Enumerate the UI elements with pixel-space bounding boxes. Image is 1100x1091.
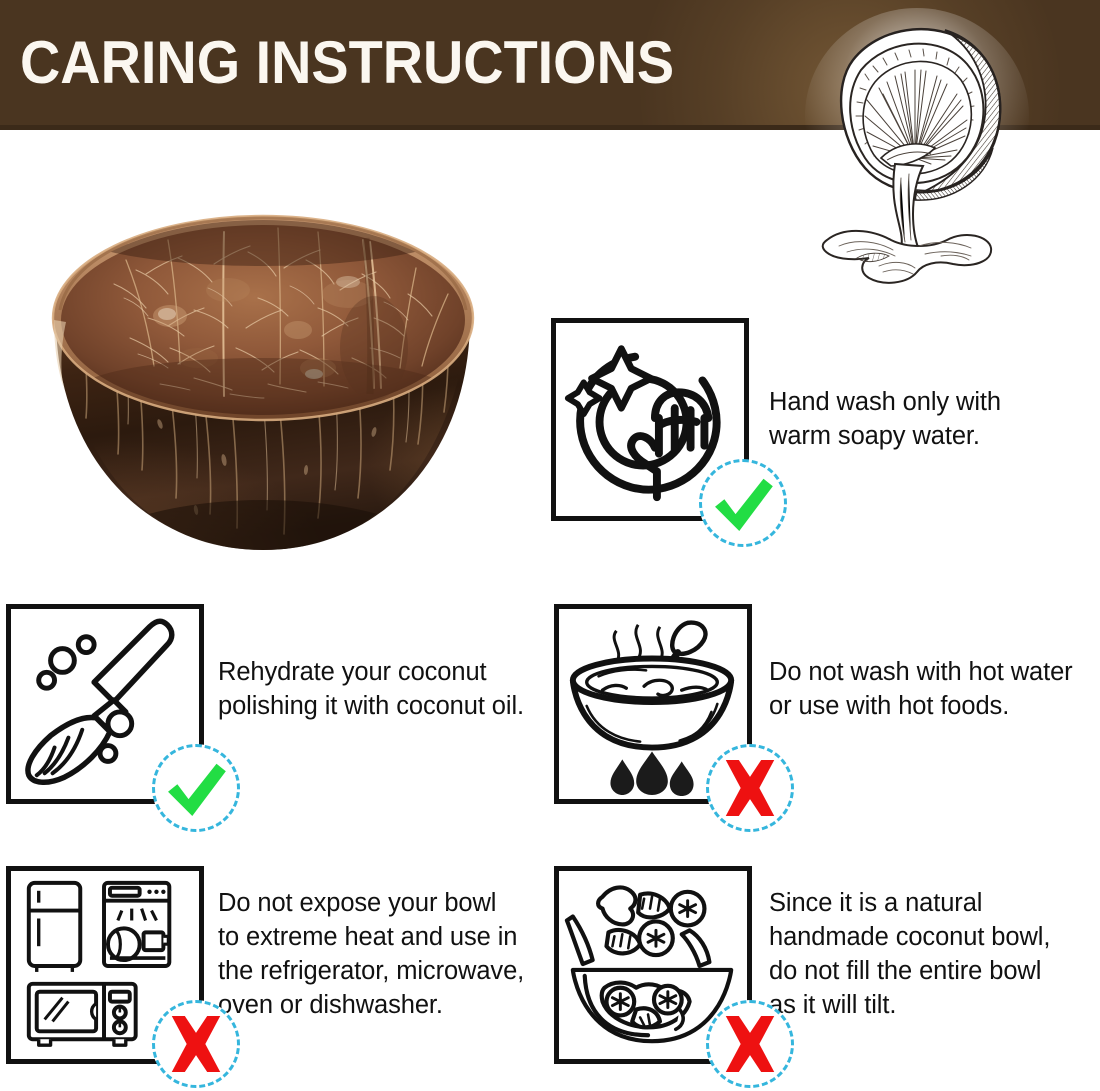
cross-badge-no-extreme-heat (152, 1000, 240, 1088)
check-badge-rehydrate (152, 744, 240, 832)
coconut-bowl-photo (18, 198, 508, 588)
cross-badge-do-not-overfill (706, 1000, 794, 1088)
instruction-text-hand-wash: Hand wash only with warm soapy water. (769, 385, 1089, 453)
instruction-text-do-not-overfill: Since it is a natural handmade coconut b… (769, 886, 1100, 1022)
page-title: CARING INSTRUCTIONS (20, 26, 674, 100)
instruction-text-rehydrate: Rehydrate your coconut polishing it with… (218, 655, 548, 723)
instruction-text-no-hot-water: Do not wash with hot water or use with h… (769, 655, 1099, 723)
cross-badge-no-hot-water (706, 744, 794, 832)
coconut-pouring-milk-sketch-icon (795, 8, 1045, 303)
instruction-text-no-extreme-heat: Do not expose your bowl to extreme heat … (218, 886, 554, 1022)
check-badge-hand-wash (699, 459, 787, 547)
